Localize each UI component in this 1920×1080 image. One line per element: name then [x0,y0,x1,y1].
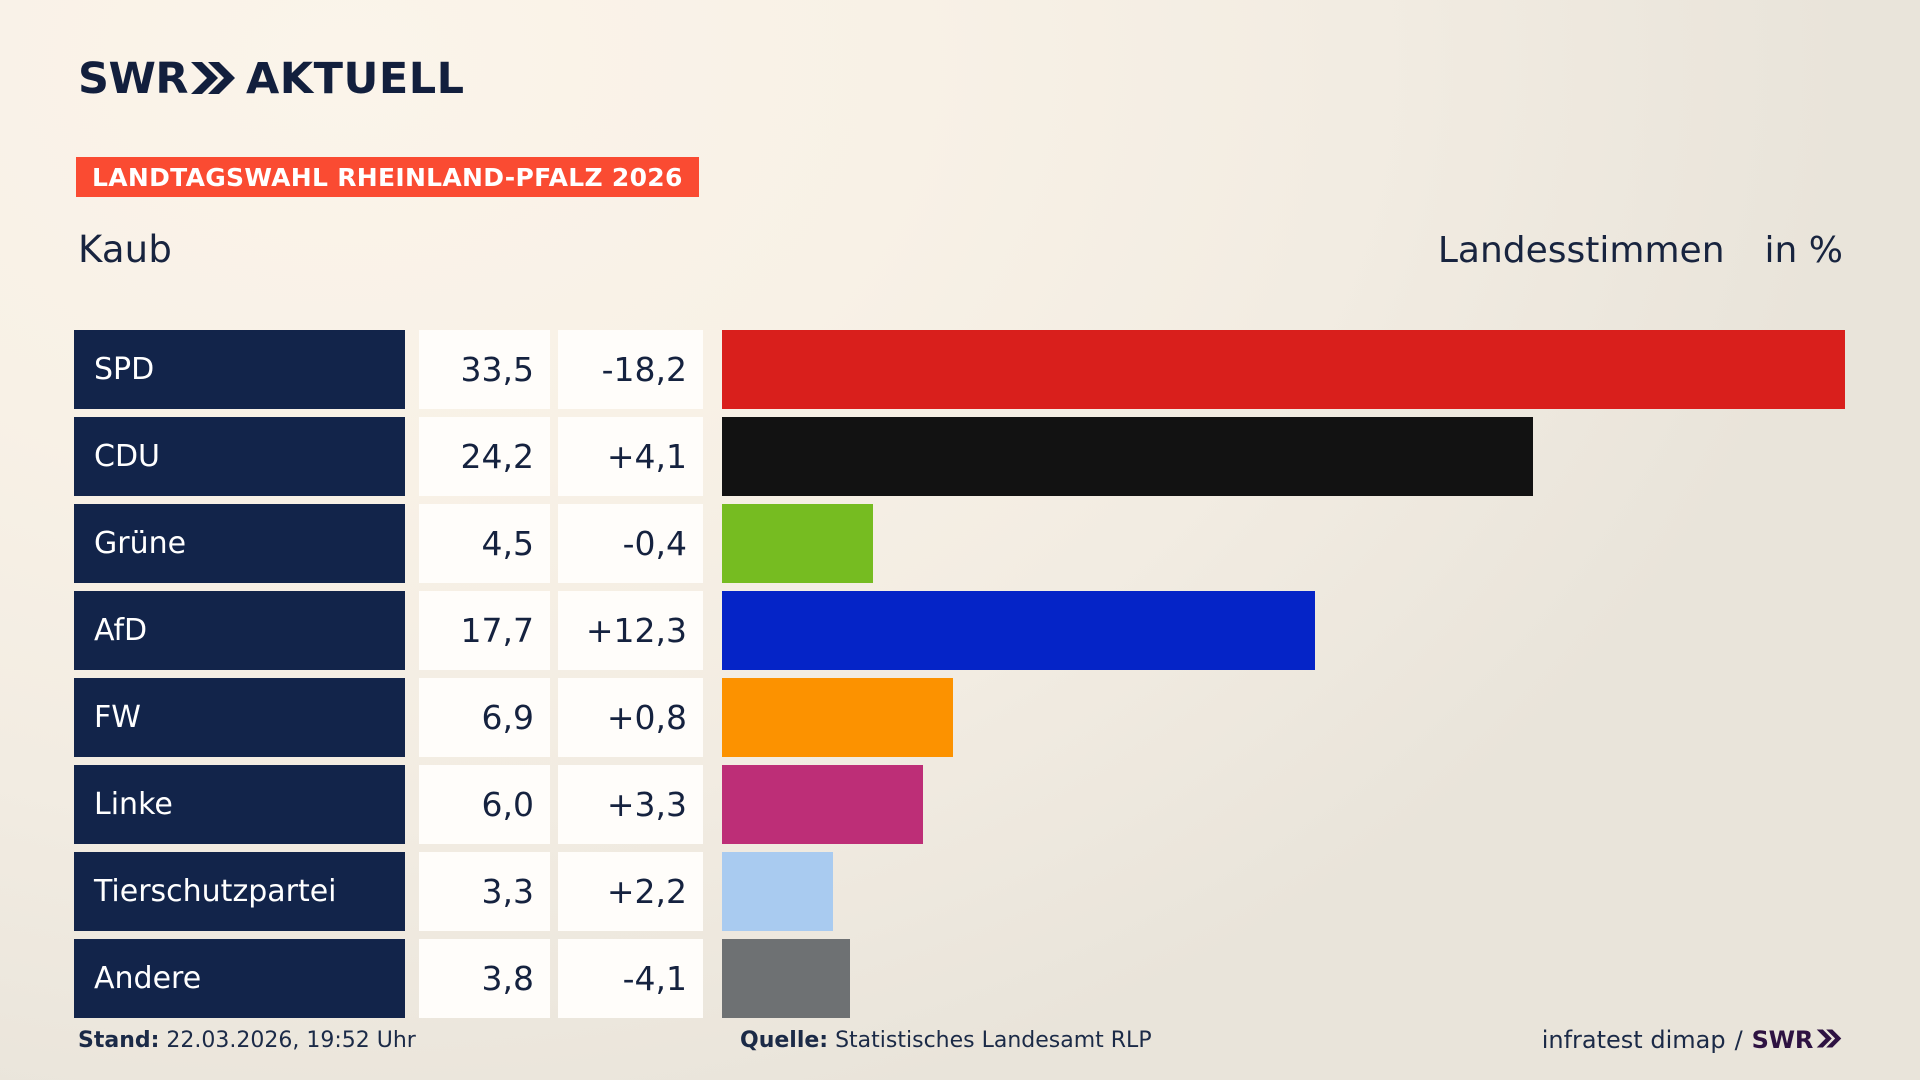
party-bar [722,417,1533,496]
party-bar [722,330,1845,409]
party-share-value: 33,5 [419,330,550,409]
party-bar [722,852,833,931]
party-bar [722,939,850,1018]
footer-stand-value: 22.03.2026, 19:52 Uhr [166,1028,415,1053]
vote-type-label: Landesstimmen [1438,230,1725,271]
party-share-value: 6,0 [419,765,550,844]
unit-label: in % [1765,230,1843,271]
swr-wordmark: SWR [78,58,188,101]
swr-aktuell-logo: SWR AKTUELL [78,58,465,101]
party-change-value: +4,1 [558,417,703,496]
party-share-value: 17,7 [419,591,550,670]
region-name: Kaub [78,228,172,271]
party-label: Tierschutzpartei [74,852,405,931]
party-label: FW [74,678,405,757]
party-label: Grüne [74,504,405,583]
party-label: Linke [74,765,405,844]
footer-credit: infratest dimap / SWR [1542,1026,1842,1054]
election-banner: LANDTAGSWAHL RHEINLAND-PFALZ 2026 [76,157,699,197]
footer-quelle-label: Quelle: [740,1028,828,1053]
footer-stand: Stand: 22.03.2026, 19:52 Uhr [78,1028,416,1053]
footer-stand-label: Stand: [78,1028,159,1053]
party-change-value: +3,3 [558,765,703,844]
party-change-value: -0,4 [558,504,703,583]
party-change-value: -18,2 [558,330,703,409]
party-bar [722,678,953,757]
party-change-value: +0,8 [558,678,703,757]
party-label: CDU [74,417,405,496]
double-chevron-right-icon [1816,1026,1842,1054]
footer-quelle-value: Statistisches Landesamt RLP [835,1028,1152,1053]
party-bar [722,765,923,844]
footer-quelle: Quelle: Statistisches Landesamt RLP [740,1028,1152,1053]
party-change-value: +12,3 [558,591,703,670]
party-share-value: 3,8 [419,939,550,1018]
party-share-value: 3,3 [419,852,550,931]
party-share-value: 6,9 [419,678,550,757]
credit-separator: / [1735,1026,1743,1054]
infographic-page: SWR AKTUELL LANDTAGSWAHL RHEINLAND-PFALZ… [0,0,1920,1080]
party-change-value: -4,1 [558,939,703,1018]
chart-header-right: Landesstimmen in % [1438,230,1843,271]
party-label: Andere [74,939,405,1018]
credit-agency: infratest dimap [1542,1026,1726,1054]
party-label: AfD [74,591,405,670]
party-label: SPD [74,330,405,409]
party-share-value: 4,5 [419,504,550,583]
footer: Stand: 22.03.2026, 19:52 Uhr Quelle: Sta… [0,1028,1920,1068]
party-bar [722,591,1315,670]
party-change-value: +2,2 [558,852,703,931]
credit-swr-wordmark: SWR [1752,1026,1813,1054]
party-share-value: 24,2 [419,417,550,496]
party-bar [722,504,873,583]
double-chevron-right-icon [190,61,236,98]
aktuell-wordmark: AKTUELL [246,58,465,101]
